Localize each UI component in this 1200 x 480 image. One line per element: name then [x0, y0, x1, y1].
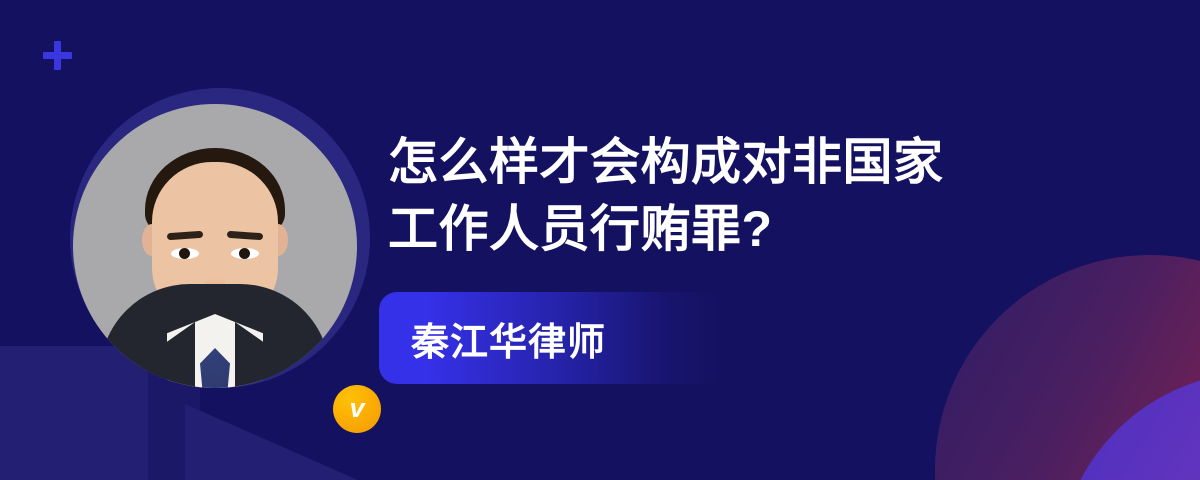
plus-icon [43, 41, 72, 70]
page-title-line-2: 工作人员行贿罪? [388, 196, 1088, 263]
author-name-label: 秦江华律师 [411, 311, 606, 366]
author-name-badge: 秦江华律师 [379, 292, 724, 384]
verified-glyph: v [349, 395, 364, 422]
page-title-line-1: 怎么样才会构成对非国家 [388, 129, 1088, 196]
portrait-eye-left [171, 248, 199, 259]
verified-v-icon: v [333, 385, 381, 433]
portrait-eye-right [231, 248, 259, 259]
avatar: v [70, 88, 370, 388]
crimson-blob-shape [935, 255, 1200, 480]
avatar-photo [73, 104, 357, 388]
portrait-illustration [73, 104, 357, 388]
page-title: 怎么样才会构成对非国家 工作人员行贿罪? [388, 129, 1088, 263]
purple-blob-shape [1058, 372, 1200, 480]
mid-wedge-shape [185, 404, 435, 480]
promo-banner: v 怎么样才会构成对非国家 工作人员行贿罪? 秦江华律师 [0, 0, 1200, 480]
